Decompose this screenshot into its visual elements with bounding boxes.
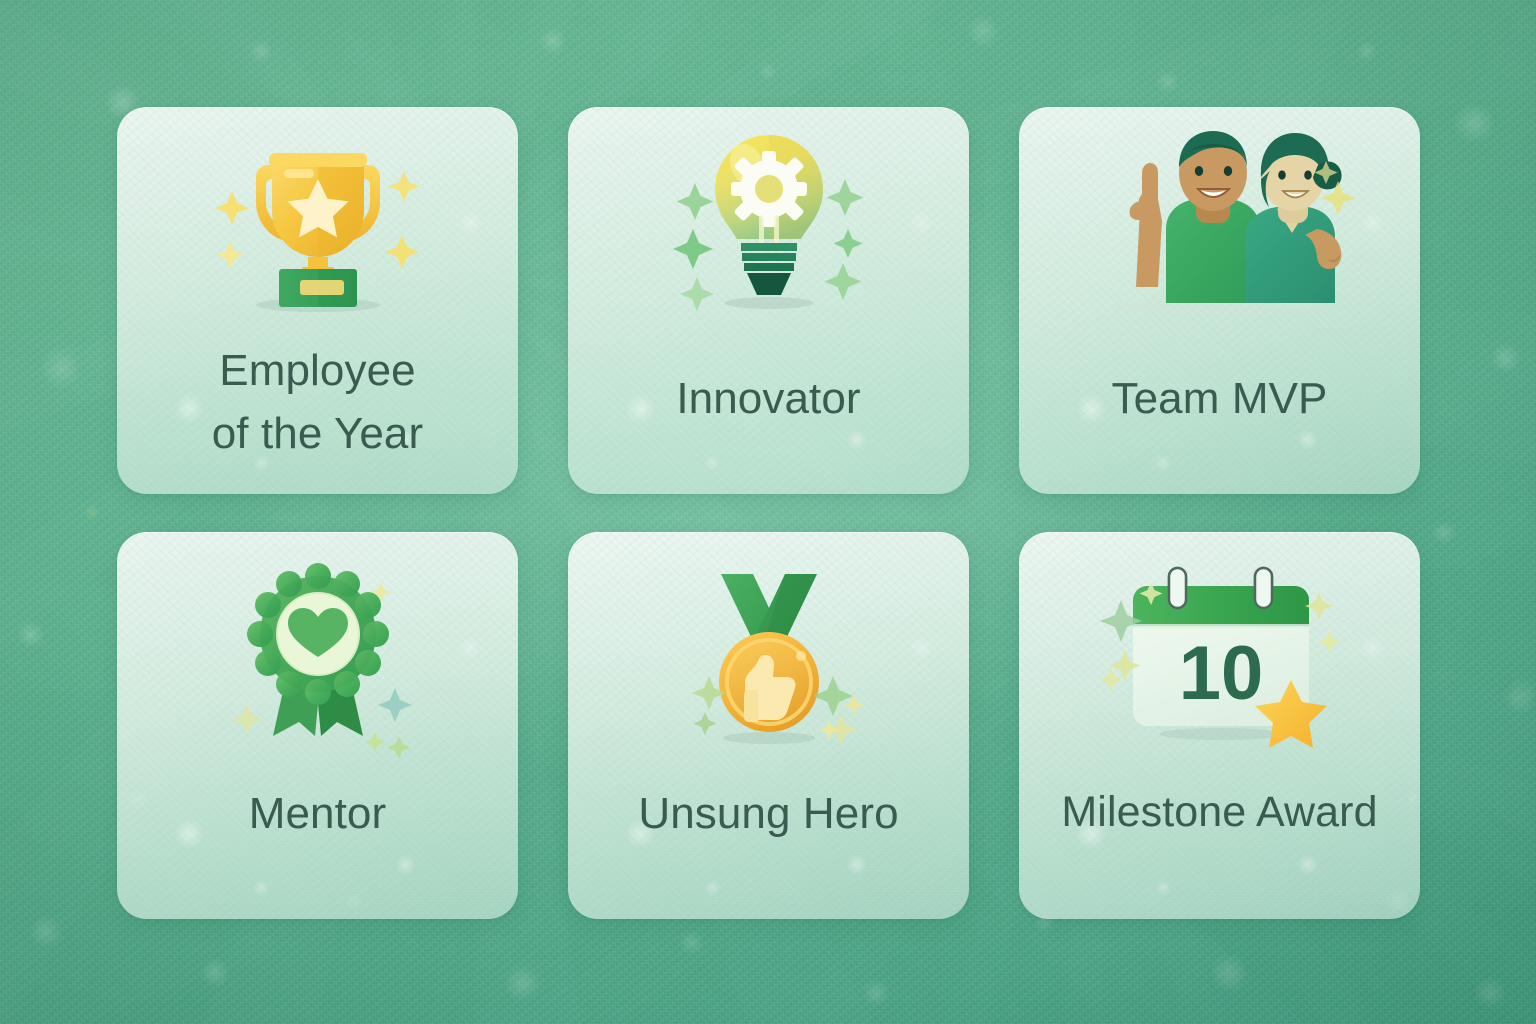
award-label-line1: Employee xyxy=(219,346,415,395)
award-label: Milestone Award xyxy=(1019,782,1420,844)
calendar-number: 10 xyxy=(1178,631,1263,716)
award-label: Unsung Hero xyxy=(568,782,969,845)
lightbulb-gear-icon xyxy=(568,107,969,337)
award-card-unsung-hero[interactable]: Unsung Hero xyxy=(568,532,969,919)
trophy-icon xyxy=(117,107,518,337)
award-label: Innovator xyxy=(568,367,969,430)
award-card-mentor[interactable]: Mentor xyxy=(117,532,518,919)
award-card-milestone-award[interactable]: 10 Milestone Award xyxy=(1019,532,1420,919)
award-card-team-mvp[interactable]: Team MVP xyxy=(1019,107,1420,494)
award-label: Employee of the Year xyxy=(117,339,518,466)
award-label: Mentor xyxy=(117,782,518,845)
medal-thumbsup-icon xyxy=(568,532,969,768)
rosette-heart-icon xyxy=(117,532,518,768)
award-label-line2: of the Year xyxy=(212,409,424,458)
awards-grid: Employee of the Year xyxy=(117,107,1420,919)
calendar-star-icon: 10 xyxy=(1019,532,1420,768)
award-card-employee-of-the-year[interactable]: Employee of the Year xyxy=(117,107,518,494)
award-label: Team MVP xyxy=(1019,367,1420,430)
two-people-icon xyxy=(1019,107,1420,337)
award-card-innovator[interactable]: Innovator xyxy=(568,107,969,494)
